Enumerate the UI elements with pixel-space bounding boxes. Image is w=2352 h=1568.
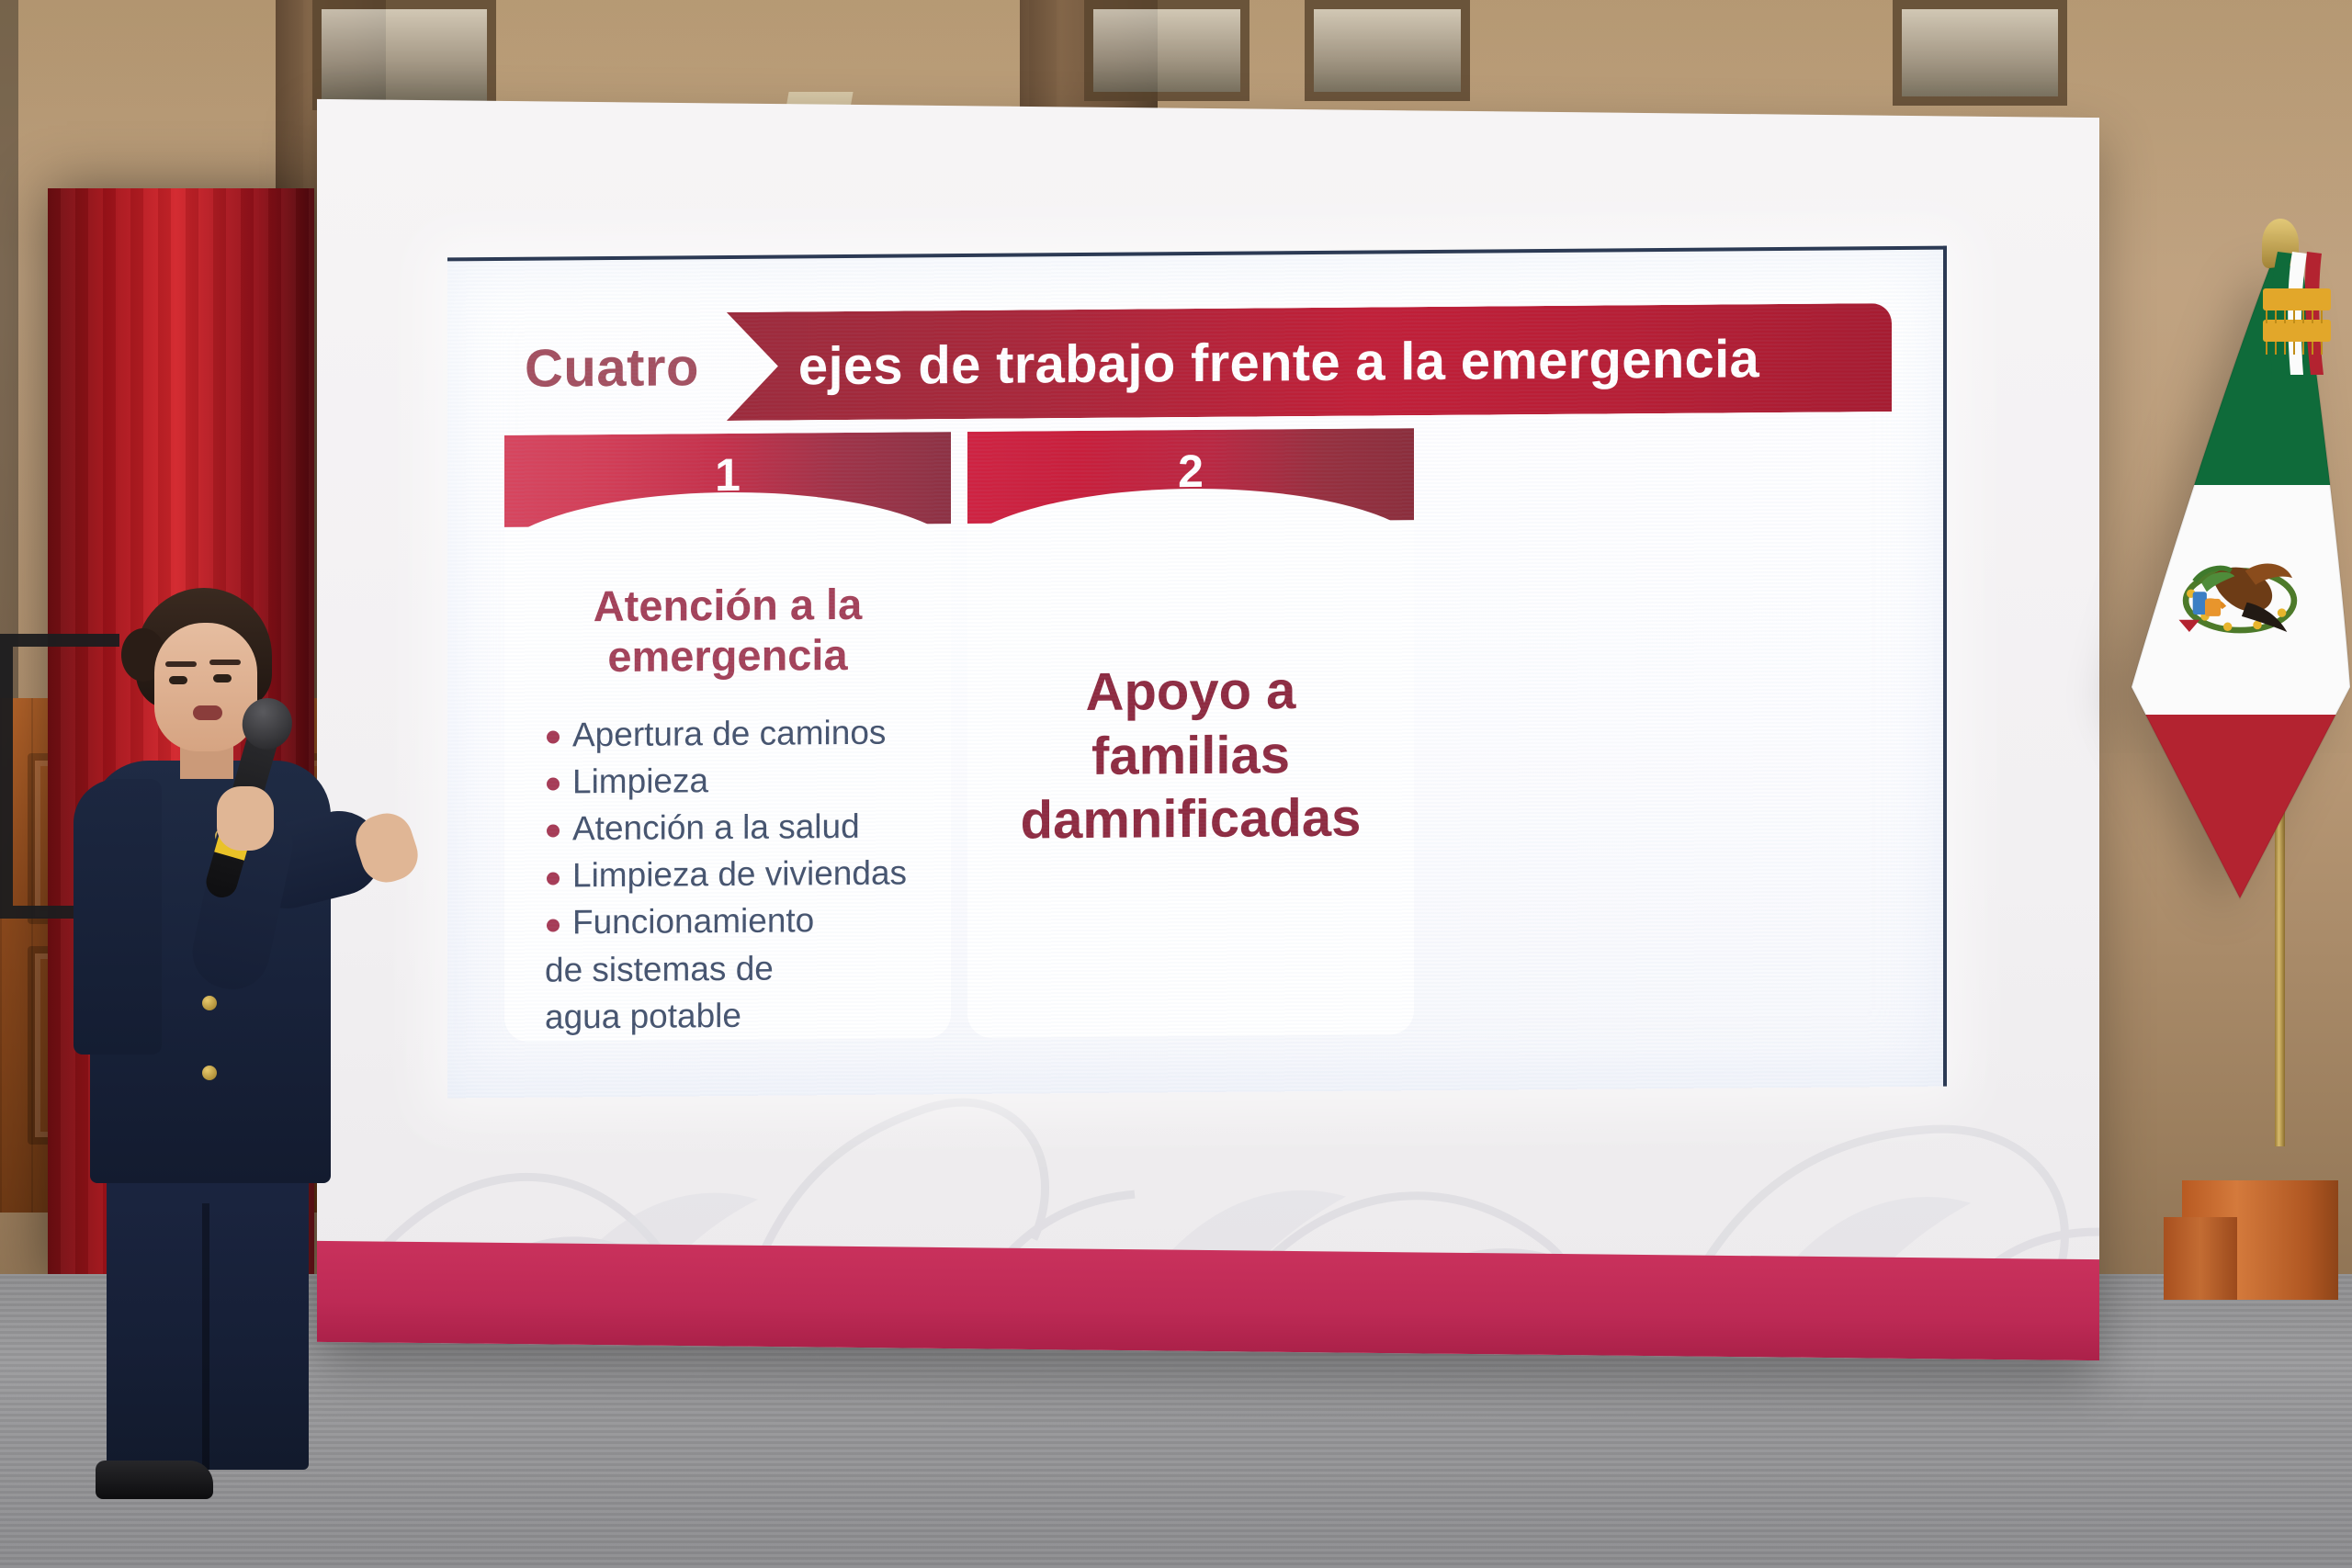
axis-card-2-heading: Apoyo a familias damnificadas bbox=[991, 658, 1390, 852]
list-item-label: Funcionamiento bbox=[572, 902, 814, 942]
flag-ribbon-icon bbox=[2256, 246, 2335, 384]
speaker-eye-left bbox=[169, 676, 187, 684]
slide-cards: 1 Atención a la emergencia Apertura de c… bbox=[504, 424, 1892, 1042]
axis-card-2: 2 Apoyo a familias damnificadas bbox=[967, 428, 1414, 1038]
speaker-eyebrow-left bbox=[165, 661, 197, 667]
speaker-eye-right bbox=[213, 674, 232, 682]
list-item-label: Limpieza de viviendas bbox=[572, 854, 907, 895]
projection-screen: Cuatro ejes de trabajo frente a la emerg… bbox=[447, 246, 1947, 1099]
window-upper-left bbox=[312, 0, 496, 110]
axis-card-2-header: 2 bbox=[967, 428, 1414, 524]
flag-stand bbox=[2164, 1089, 2338, 1300]
bullet-dot-icon bbox=[547, 778, 560, 791]
list-item-label: de sistemas de bbox=[545, 949, 774, 988]
axis-card-1-body: Atención a la emergencia Apertura de cam… bbox=[504, 524, 951, 1040]
list-item: Limpieza bbox=[545, 757, 927, 804]
axis-card-1-heading: Atención a la emergencia bbox=[528, 579, 927, 682]
window-upper-mid bbox=[1084, 0, 1249, 101]
bullet-dot-icon bbox=[547, 919, 560, 931]
slide-title-row: Cuatro ejes de trabajo frente a la emerg… bbox=[504, 303, 1892, 423]
speaker-shoe bbox=[96, 1461, 213, 1499]
list-item: Atención a la salud bbox=[545, 805, 927, 852]
screenshot-stage: Cuatro ejes de trabajo frente a la emerg… bbox=[0, 0, 2352, 1568]
slide-title-banner: ejes de trabajo frente a la emergencia bbox=[727, 303, 1892, 421]
bullet-dot-icon bbox=[547, 731, 560, 744]
list-item: Limpieza de viviendas bbox=[545, 852, 927, 898]
speaker-face bbox=[154, 623, 257, 751]
window-upper-right bbox=[1305, 0, 1470, 101]
list-item: Funcionamiento bbox=[545, 898, 927, 945]
list-item-label: Apertura de caminos bbox=[572, 714, 886, 754]
speaker-figure bbox=[64, 588, 367, 1516]
slide-title-banner-text: ejes de trabajo frente a la emergencia bbox=[798, 328, 1759, 397]
axis-card-1: 1 Atención a la emergencia Apertura de c… bbox=[504, 432, 951, 1042]
window-upper-far-right bbox=[1893, 0, 2067, 106]
list-item-continuation: de sistemas de bbox=[545, 945, 927, 992]
flag-stand-lower-block bbox=[2164, 1217, 2237, 1300]
blazer-button-icon bbox=[202, 1066, 217, 1080]
list-item-label: agua potable bbox=[545, 996, 741, 1035]
speaker-legs bbox=[107, 1167, 309, 1470]
speaker-mouth bbox=[193, 705, 222, 720]
speaker-left-sleeve bbox=[73, 779, 162, 1055]
list-item-label: Limpieza bbox=[572, 761, 708, 800]
speaker-eyebrow-right bbox=[209, 660, 241, 665]
list-item-continuation: agua potable bbox=[545, 992, 927, 1039]
axis-card-1-bullet-list: Apertura de caminos Limpieza Atención a … bbox=[528, 710, 927, 1039]
bullet-dot-icon bbox=[547, 872, 560, 885]
bullet-dot-icon bbox=[547, 825, 560, 838]
axis-card-1-header: 1 bbox=[504, 432, 951, 527]
blazer-button-icon bbox=[202, 996, 217, 1010]
speaker-mic-hand bbox=[217, 786, 274, 851]
list-item-label: Atención a la salud bbox=[572, 807, 860, 847]
list-item: Apertura de caminos bbox=[545, 710, 927, 757]
axis-card-2-body: Apoyo a familias damnificadas bbox=[967, 520, 1414, 853]
backdrop-bottom-stripe bbox=[317, 1241, 2099, 1360]
slide-title-prefix: Cuatro bbox=[504, 312, 727, 423]
presentation-slide: Cuatro ejes de trabajo frente a la emerg… bbox=[504, 303, 1892, 1049]
